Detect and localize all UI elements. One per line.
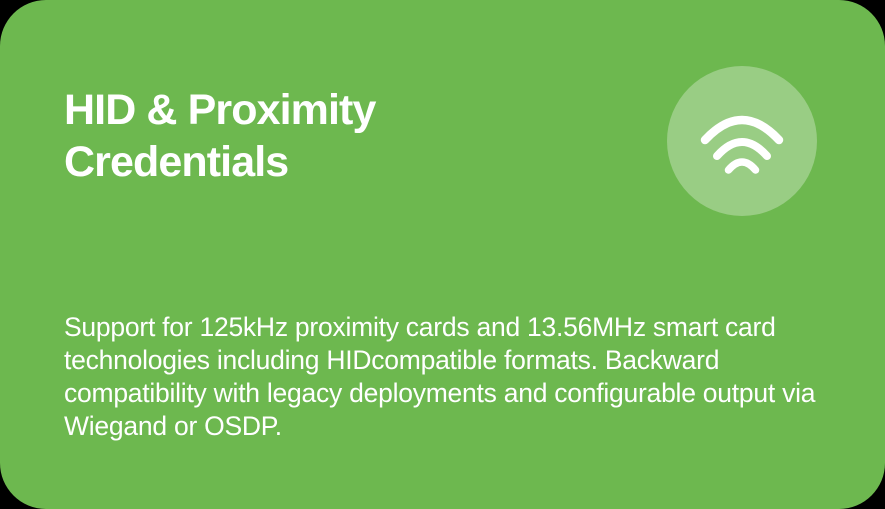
card-header: HID & Proximity Credentials (0, 0, 885, 240)
card-description: Support for 125kHz proximity cards and 1… (64, 311, 824, 443)
feature-card: HID & Proximity Credentials Support for … (0, 0, 885, 509)
card-title: HID & Proximity Credentials (64, 84, 584, 188)
icon-badge (667, 66, 817, 216)
